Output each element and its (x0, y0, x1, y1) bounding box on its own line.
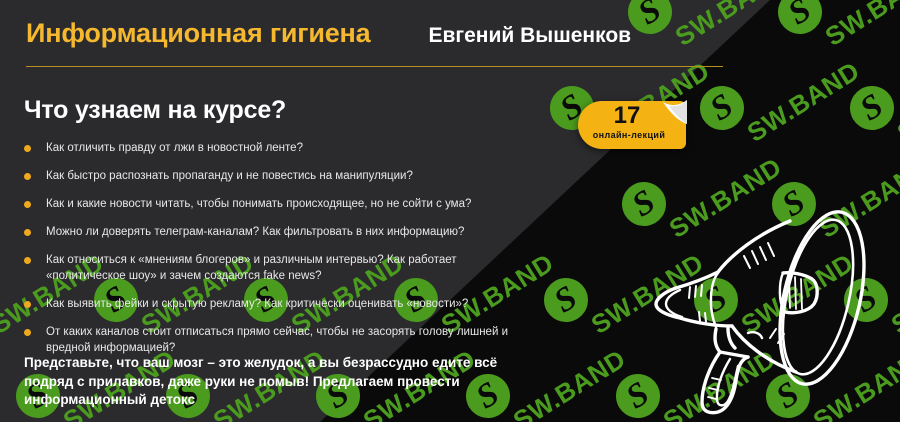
bullet-dot-icon (24, 301, 31, 308)
list-item: Как выявить фейки и скрытую рекламу? Как… (24, 296, 534, 312)
list-item-label: Как отличить правду от лжи в новостной л… (46, 140, 303, 156)
closing-paragraph: Представьте, что ваш мозг – это желудок,… (24, 354, 524, 410)
bullet-dot-icon (24, 329, 31, 336)
bullet-dot-icon (24, 145, 31, 152)
list-item-label: Можно ли доверять телеграм-каналам? Как … (46, 224, 464, 240)
list-item-label: От каких каналов стоит отписаться прямо … (46, 324, 534, 356)
list-item: Как относиться к «мнениям блогеров» и ра… (24, 252, 534, 284)
megaphone-icon (640, 180, 890, 415)
list-item: От каких каналов стоит отписаться прямо … (24, 324, 534, 356)
page-title: Что узнаем на курсе? (24, 96, 286, 125)
header-divider (26, 66, 723, 67)
bullet-dot-icon (24, 257, 31, 264)
author-name: Евгений Вышенков (428, 24, 631, 48)
list-item-label: Как относиться к «мнениям блогеров» и ра… (46, 252, 534, 284)
list-item: Как быстро распознать пропаганду и не по… (24, 168, 534, 184)
bullet-dot-icon (24, 173, 31, 180)
list-item-label: Как быстро распознать пропаганду и не по… (46, 168, 413, 184)
list-item-label: Как выявить фейки и скрытую рекламу? Как… (46, 296, 468, 312)
list-item-label: Как и какие новости читать, чтобы понима… (46, 196, 471, 212)
course-topics-list: Как отличить правду от лжи в новостной л… (24, 140, 534, 368)
badge-label: онлайн-лекций (578, 130, 680, 140)
list-item: Как отличить правду от лжи в новостной л… (24, 140, 534, 156)
lecture-count-badge: 17 онлайн-лекций (578, 101, 686, 149)
slide-canvas: SW.BANDSSW.BANDSSW.BANDSSW.BANDSSW.BANDS… (0, 0, 900, 422)
page-curl-icon (661, 100, 687, 126)
course-title: Информационная гигиена (26, 18, 370, 49)
bullet-dot-icon (24, 229, 31, 236)
slide-header: Информационная гигиена Евгений Вышенков (26, 18, 746, 49)
list-item: Можно ли доверять телеграм-каналам? Как … (24, 224, 534, 240)
list-item: Как и какие новости читать, чтобы понима… (24, 196, 534, 212)
bullet-dot-icon (24, 201, 31, 208)
